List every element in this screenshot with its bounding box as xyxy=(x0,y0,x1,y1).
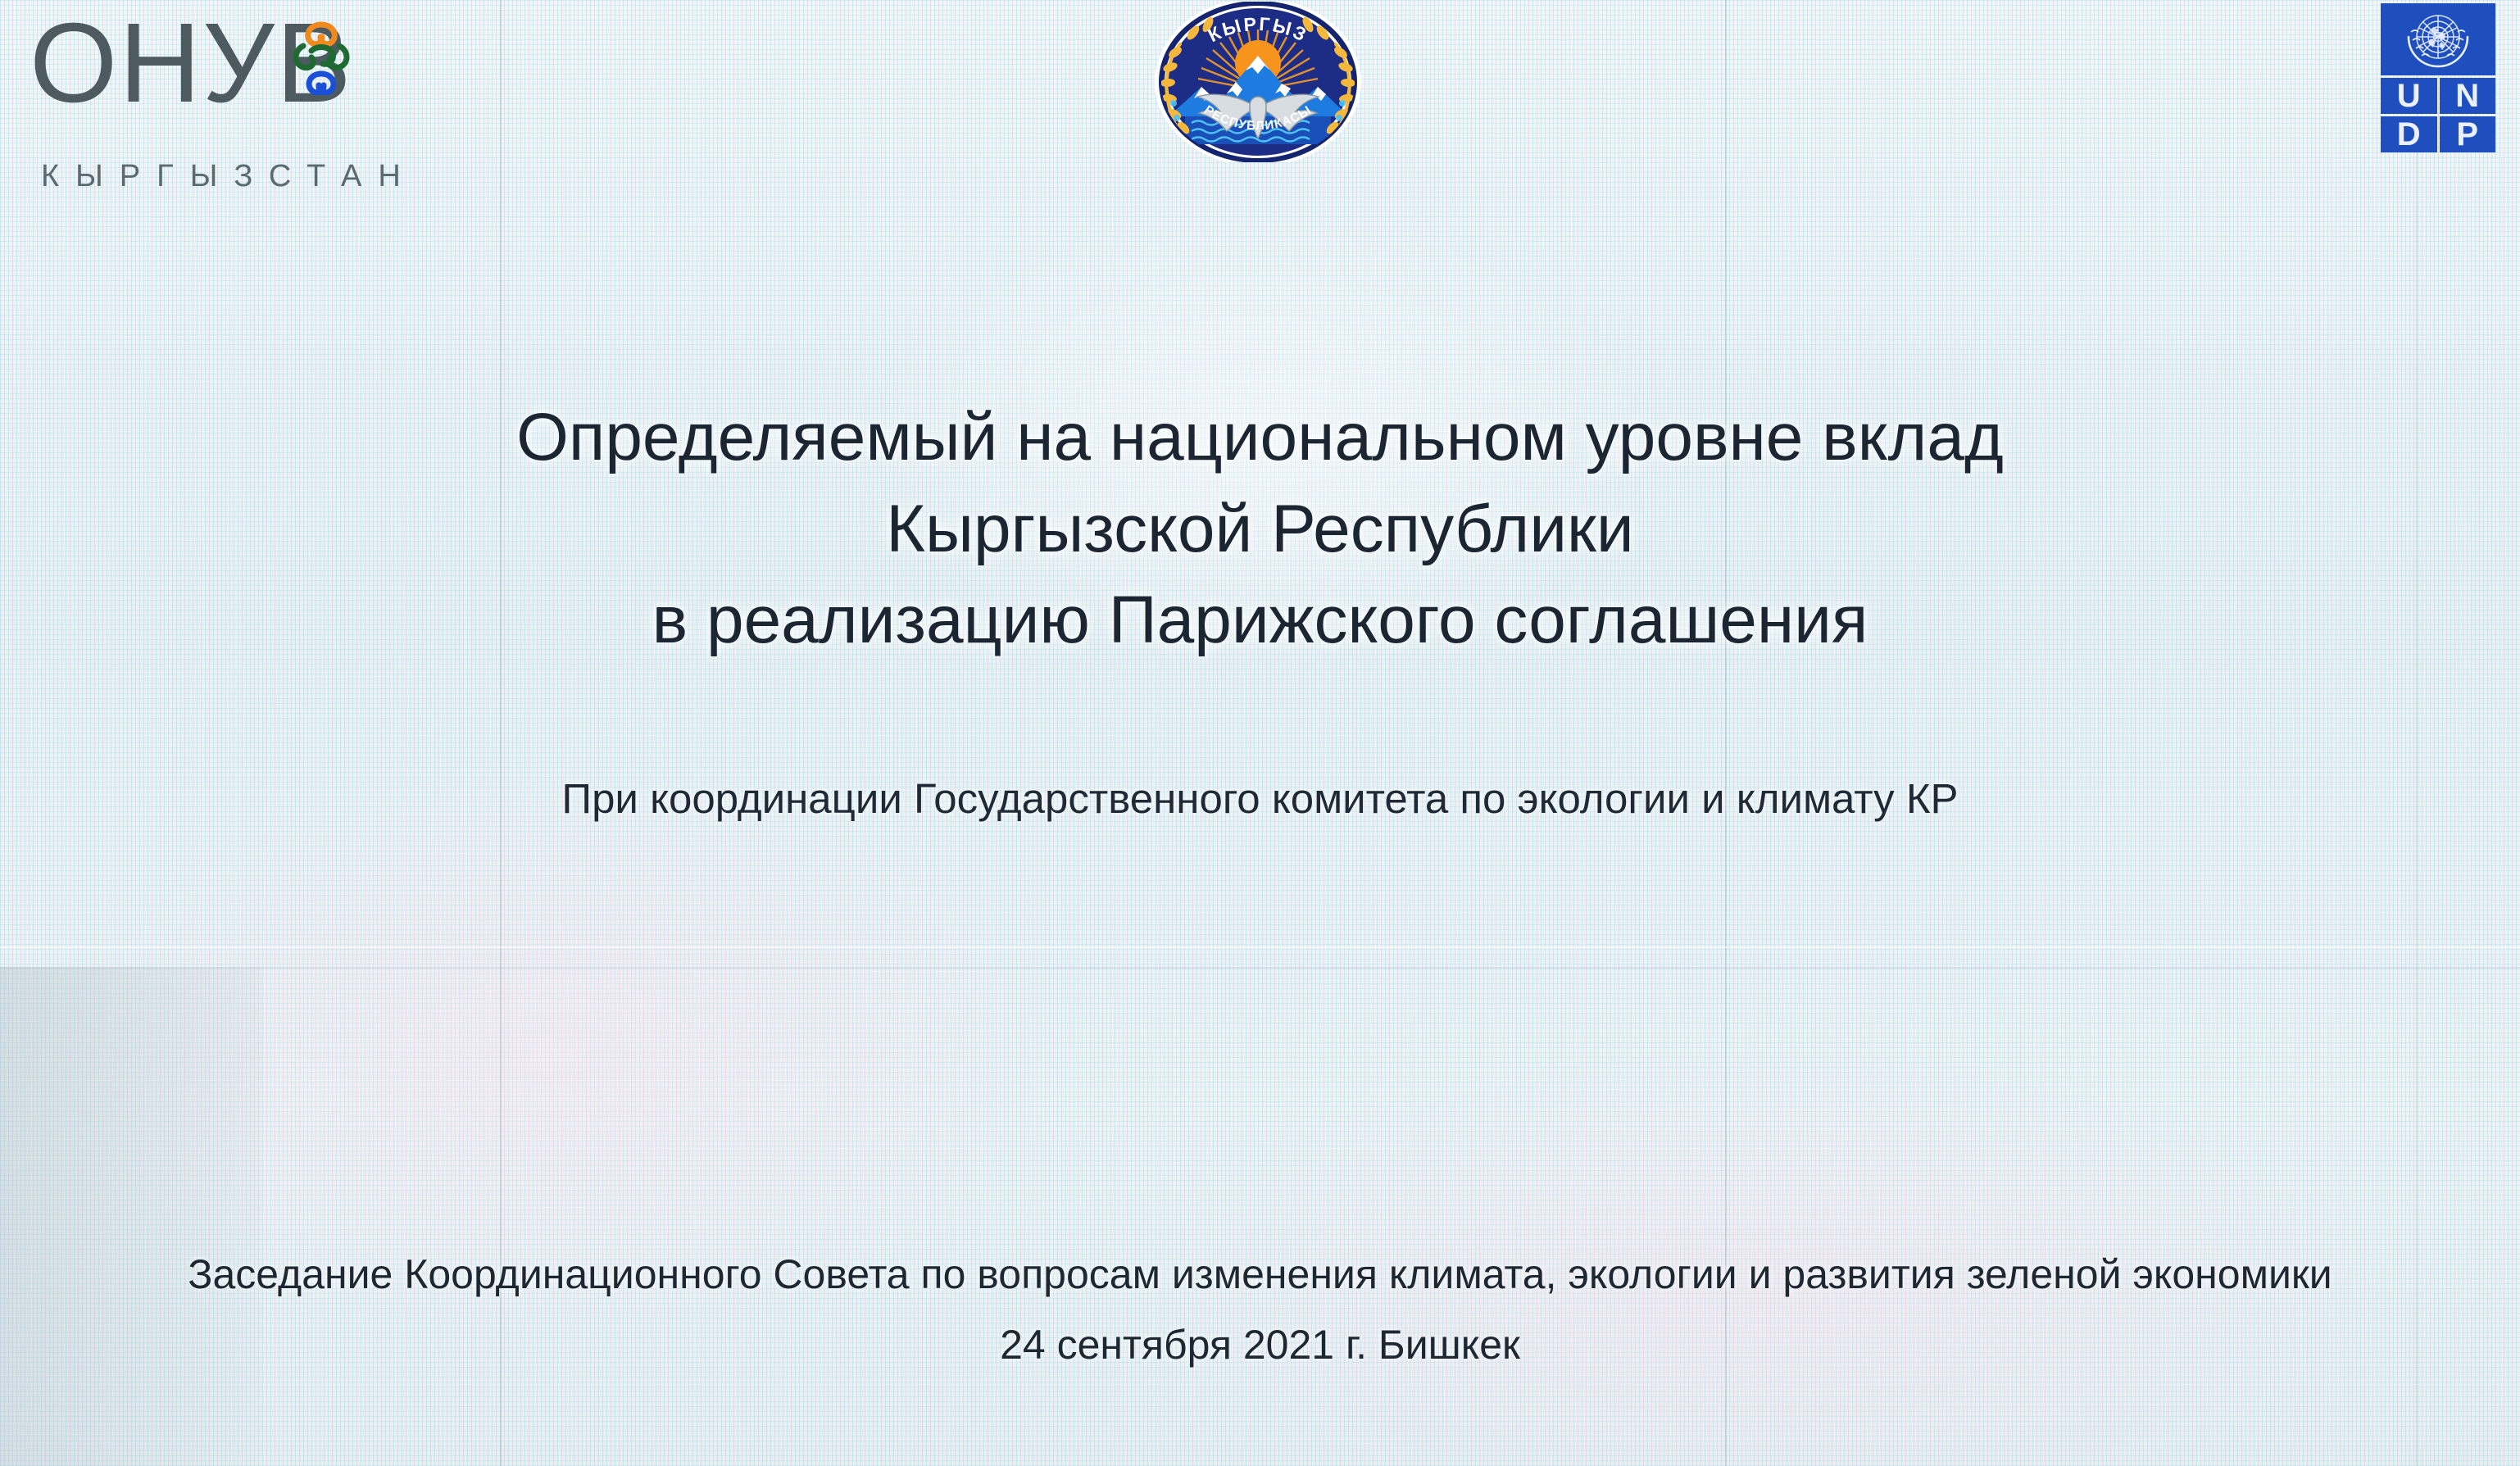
slide-footer: Заседание Координационного Совета по воп… xyxy=(0,1239,2520,1380)
footer-date-line: 24 сентября 2021 г. Бишкек xyxy=(0,1309,2520,1380)
undp-letter-d: D xyxy=(2381,116,2437,152)
title-line-1: Определяемый на национальном уровне вкла… xyxy=(0,392,2520,483)
undp-letter-p: P xyxy=(2440,116,2496,152)
slide-title: Определяемый на национальном уровне вкла… xyxy=(0,392,2520,666)
undp-logo: U N D P xyxy=(2381,3,2495,148)
screen-band-shadow xyxy=(0,967,2520,969)
onuv-logo: ОНУВ КЫРГЫЗСТАН xyxy=(30,7,702,121)
screen-shadow-lower-left xyxy=(0,967,262,1466)
title-line-2: Кыргызской Республики xyxy=(0,483,2520,575)
screen-band-highlight xyxy=(0,946,2520,948)
un-emblem-icon xyxy=(2381,3,2495,75)
undp-letter-n: N xyxy=(2440,78,2496,114)
slide-subtitle: При координации Государственного комитет… xyxy=(0,774,2520,823)
footer-event-line: Заседание Координационного Совета по воп… xyxy=(0,1239,2520,1309)
kyrgyz-coat-of-arms: КЫРГЫЗ РЕСПУБЛИКАСЫ xyxy=(1144,2,1372,162)
title-line-3: в реализацию Парижского соглашения xyxy=(0,574,2520,666)
undp-letter-u: U xyxy=(2381,78,2437,114)
presentation-slide: ОНУВ КЫРГЫЗСТАН xyxy=(0,0,2520,1466)
onuv-knot-icon xyxy=(284,16,359,105)
onuv-country-label: КЫРГЫЗСТАН xyxy=(41,159,417,194)
